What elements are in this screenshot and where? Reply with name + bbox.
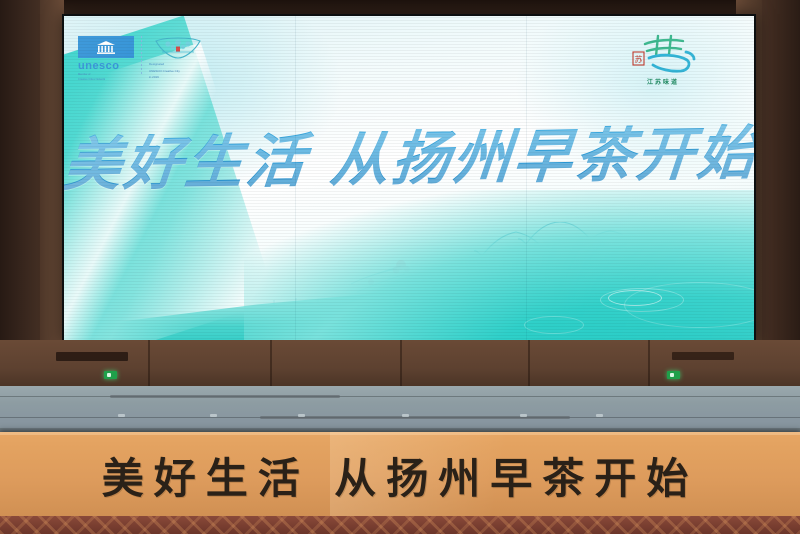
floor-carpet bbox=[0, 516, 800, 534]
unesco-temple-icon bbox=[95, 40, 117, 55]
stage-floor-marker bbox=[298, 414, 305, 417]
wall-seam bbox=[528, 340, 530, 388]
su-calligraphy-icon: 苏 bbox=[625, 32, 701, 76]
carpet-pattern bbox=[0, 516, 800, 534]
svg-text:苏: 苏 bbox=[635, 54, 643, 64]
logo-divider bbox=[141, 36, 142, 76]
led-screen-frame: unesco Member of Creative Cities Network bbox=[62, 14, 756, 344]
stage-front-banner: 美好生活 从扬州早茶开始 bbox=[0, 432, 800, 520]
stage-floor-marker bbox=[520, 414, 527, 417]
creative-city-logo: Designated UNESCO Creative City in 2019 bbox=[149, 36, 207, 80]
stage-floor-marker bbox=[596, 414, 603, 417]
stage-floor-marker bbox=[118, 414, 125, 417]
wall-seam bbox=[648, 340, 650, 388]
jiangsu-flavor-logo: 苏 江苏味道 bbox=[620, 32, 706, 86]
city-logo-line-1: Designated bbox=[149, 62, 207, 67]
led-panel-seam bbox=[295, 16, 296, 342]
stage-floor-marker bbox=[402, 414, 409, 417]
backwall-sign-right bbox=[672, 352, 734, 360]
led-panel-seam bbox=[526, 16, 527, 342]
exit-sign-left bbox=[104, 371, 117, 379]
stage-floor-gap bbox=[110, 395, 340, 398]
city-logo-line-2: UNESCO Creative City bbox=[149, 69, 207, 74]
conference-hall: unesco Member of Creative Cities Network bbox=[0, 0, 800, 534]
banner-text: 美好生活 从扬州早茶开始 bbox=[0, 446, 800, 504]
water-ripple bbox=[524, 316, 584, 334]
wall-seam bbox=[148, 340, 150, 388]
exit-sign-right bbox=[667, 371, 680, 379]
stage-floor-marker bbox=[210, 414, 217, 417]
unesco-subtitle-2: Creative Cities Network bbox=[78, 78, 134, 82]
jiangsu-flavor-caption: 江苏味道 bbox=[620, 77, 706, 86]
unesco-bar bbox=[78, 36, 134, 58]
wall-seam bbox=[270, 340, 272, 388]
unesco-logo-group: unesco Member of Creative Cities Network bbox=[78, 36, 207, 82]
creative-city-gastronomy-icon bbox=[152, 36, 204, 60]
city-logo-line-3: in 2019 bbox=[149, 75, 207, 80]
unesco-logo: unesco Member of Creative Cities Network bbox=[78, 36, 134, 82]
unesco-wordmark: unesco bbox=[78, 60, 134, 72]
wall-seam bbox=[400, 340, 402, 388]
led-screen-display: unesco Member of Creative Cities Network bbox=[64, 16, 754, 342]
screen-main-title: 美好生活 从扬州早茶开始 bbox=[64, 106, 754, 202]
stage-backwall bbox=[0, 340, 800, 388]
backwall-sign-left bbox=[56, 352, 128, 361]
unesco-subtitle-1: Member of bbox=[78, 73, 134, 77]
